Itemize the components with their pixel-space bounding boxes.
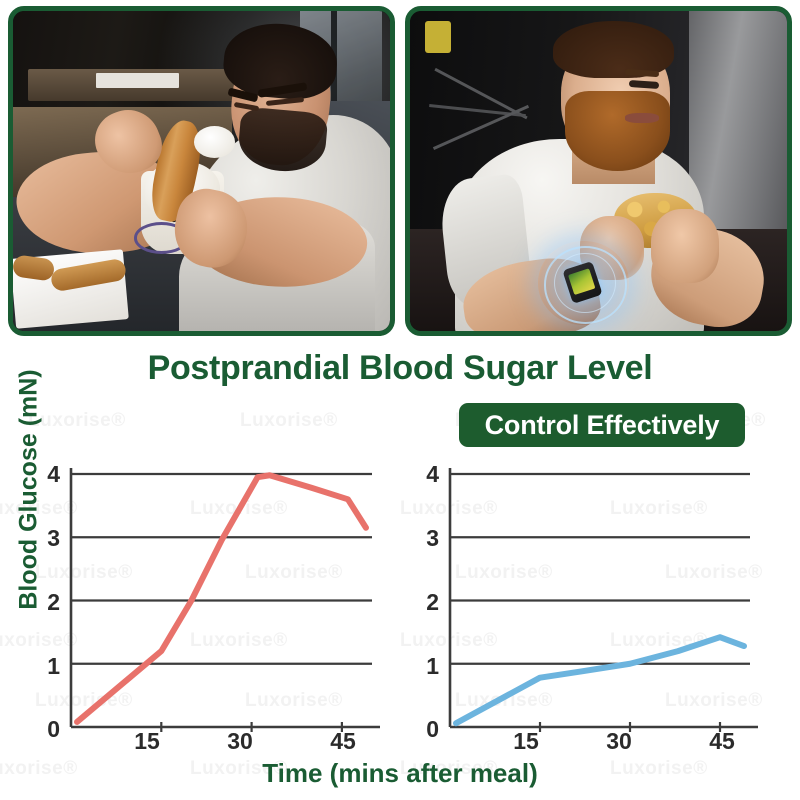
control-effectively-badge: Control Effectively [459,403,745,447]
charts-svg [0,0,800,800]
x-tick-label: 45 [699,728,745,755]
chart-uncontrolled [71,468,380,732]
series-line [456,637,744,723]
x-tick-label: 15 [503,728,549,755]
x-tick-label: 15 [124,728,170,755]
y-tick-label: 3 [413,525,439,552]
x-tick-label: 45 [320,728,366,755]
y-tick-label: 1 [413,653,439,680]
y-tick-label: 1 [34,653,60,680]
x-tick-label: 30 [596,728,642,755]
charts-area: Blood Glucose (mN) 4 3 2 1 0 4 3 2 1 0 1… [0,0,800,800]
page-title: Postprandial Blood Sugar Level [0,349,800,388]
chart-controlled [450,468,758,732]
y-tick-label: 0 [413,716,439,743]
y-tick-label: 0 [34,716,60,743]
infographic-page: Luxorise® Luxorise® Luxorise® Luxorise® … [0,0,800,800]
x-axis-title: Time (mins after meal) [0,758,800,789]
y-tick-label: 2 [413,589,439,616]
x-tick-label: 30 [217,728,263,755]
series-line [77,475,366,722]
y-tick-label: 2 [34,589,60,616]
y-tick-label: 3 [34,525,60,552]
y-tick-label: 4 [413,461,439,488]
y-tick-label: 4 [34,461,60,488]
